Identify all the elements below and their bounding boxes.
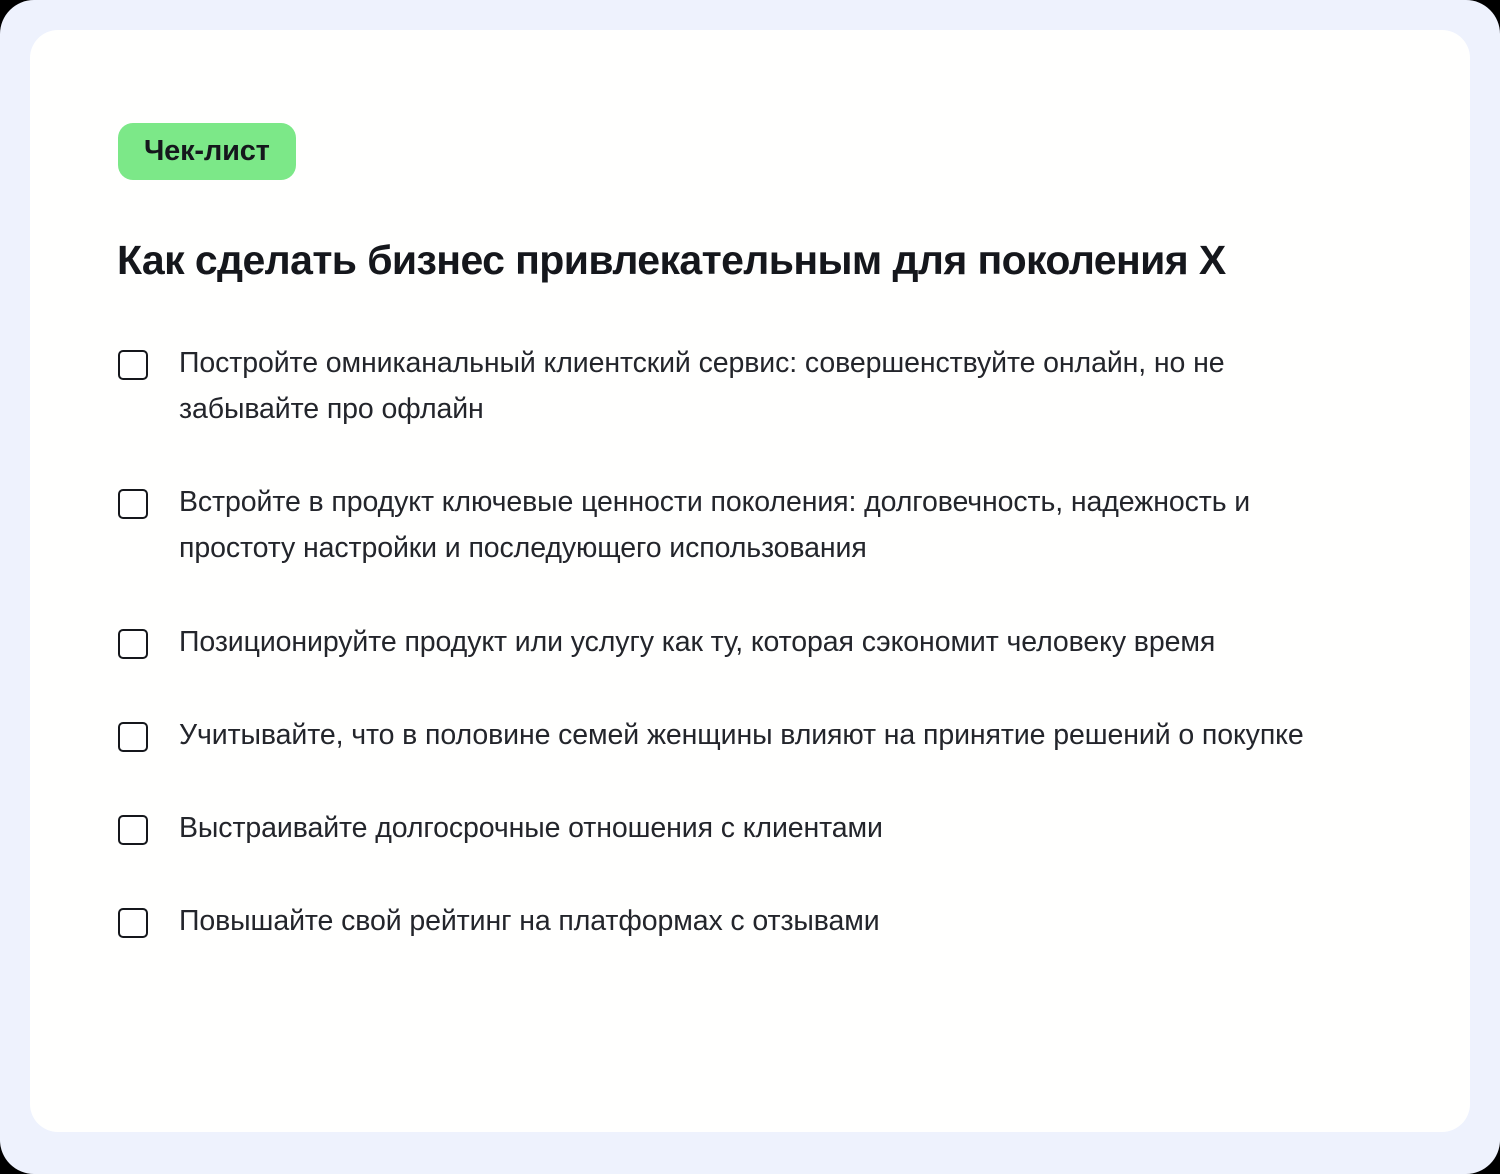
checklist: Постройте омниканальный клиентский серви…	[118, 340, 1388, 944]
checkbox-icon[interactable]	[118, 815, 148, 845]
list-item[interactable]: Учитывайте, что в половине семей женщины…	[118, 712, 1388, 758]
checklist-card: Чек-лист Как сделать бизнес привлекатель…	[30, 30, 1470, 1132]
status-badge: Чек-лист	[118, 123, 296, 180]
checkbox-icon[interactable]	[118, 722, 148, 752]
checkbox-icon[interactable]	[118, 908, 148, 938]
list-item-label: Постройте омниканальный клиентский серви…	[179, 340, 1354, 432]
list-item-label: Учитывайте, что в половине семей женщины…	[179, 712, 1304, 758]
list-item[interactable]: Позиционируйте продукт или услугу как ту…	[118, 619, 1388, 665]
list-item-label: Выстраивайте долгосрочные отношения с кл…	[179, 805, 883, 851]
list-item[interactable]: Постройте омниканальный клиентский серви…	[118, 340, 1388, 432]
list-item[interactable]: Встройте в продукт ключевые ценности пок…	[118, 479, 1388, 571]
list-item[interactable]: Выстраивайте долгосрочные отношения с кл…	[118, 805, 1388, 851]
page-title: Как сделать бизнес привлекательным для п…	[117, 236, 1417, 284]
page-surface: Чек-лист Как сделать бизнес привлекатель…	[0, 0, 1500, 1174]
list-item-label: Позиционируйте продукт или услугу как ту…	[179, 619, 1215, 665]
list-item-label: Повышайте свой рейтинг на платформах с о…	[179, 898, 880, 944]
status-badge-label: Чек-лист	[144, 137, 270, 166]
list-item[interactable]: Повышайте свой рейтинг на платформах с о…	[118, 898, 1388, 944]
checkbox-icon[interactable]	[118, 489, 148, 519]
list-item-label: Встройте в продукт ключевые ценности пок…	[179, 479, 1354, 571]
checkbox-icon[interactable]	[118, 629, 148, 659]
checkbox-icon[interactable]	[118, 350, 148, 380]
